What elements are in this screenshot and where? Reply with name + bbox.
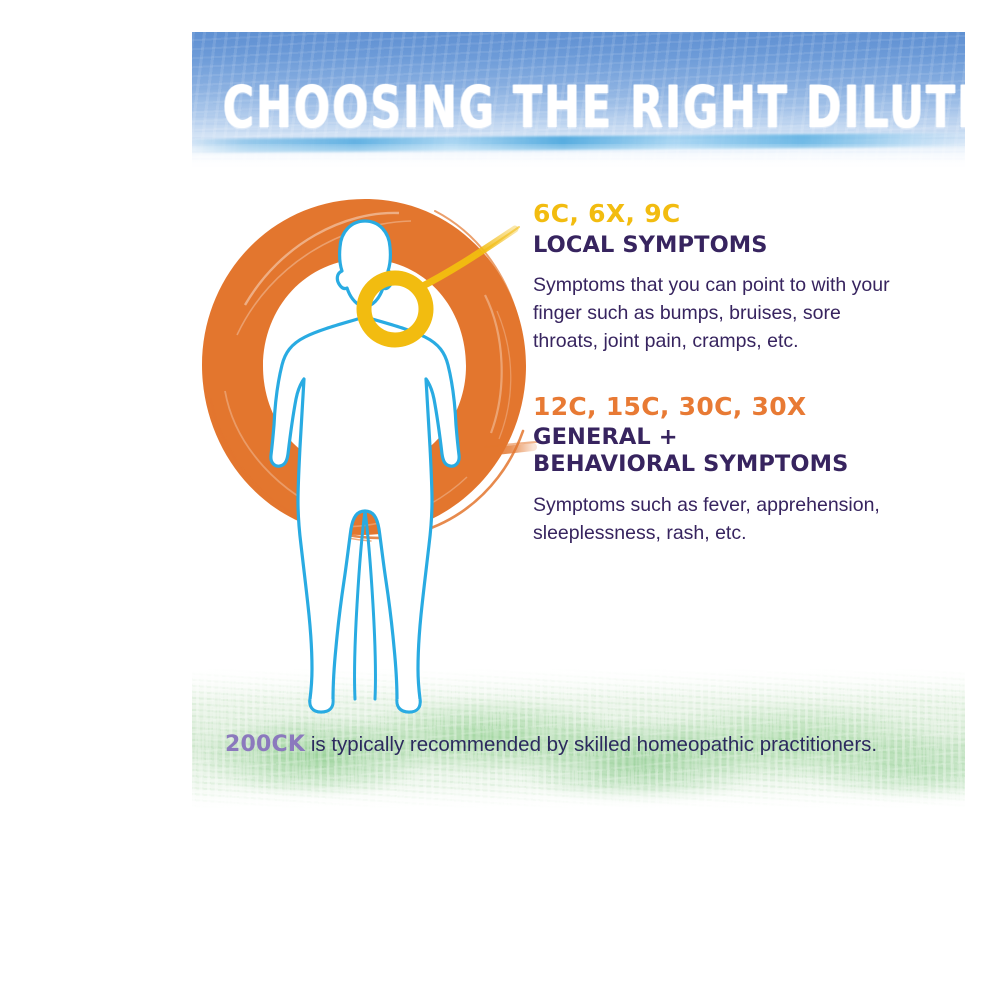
footer-highlight-200ck: 200CK: [225, 732, 305, 757]
footer-note-text: is typically recommended by skilled home…: [305, 733, 877, 756]
potency-heading-general: 12C, 15C, 30C, 30X: [533, 393, 933, 421]
block-spacer: [533, 355, 933, 393]
footer-note: 200CK is typically recommended by skille…: [225, 732, 965, 758]
infographic-poster: CHOOSING THE RIGHT DILUTION: [0, 0, 1000, 1000]
subheading-general-line1: GENERAL +: [533, 424, 678, 450]
subheading-local-symptoms: LOCAL SYMPTOMS: [533, 232, 933, 259]
subheading-general-behavioral: GENERAL + BEHAVIORAL SYMPTOMS: [533, 424, 933, 478]
potency-heading-local: 6C, 6X, 9C: [533, 200, 933, 228]
page-title: CHOOSING THE RIGHT DILUTION: [223, 78, 934, 136]
body-text-general-symptoms: Symptoms such as fever, apprehension, sl…: [533, 491, 911, 547]
dilution-text-column: 6C, 6X, 9C LOCAL SYMPTOMS Symptoms that …: [533, 200, 933, 547]
body-illustration: [185, 185, 545, 725]
subheading-general-line2: BEHAVIORAL SYMPTOMS: [533, 451, 848, 477]
sky-horizon-fade: [192, 144, 965, 172]
dilution-block-local: 6C, 6X, 9C LOCAL SYMPTOMS Symptoms that …: [533, 200, 933, 355]
dilution-block-general: 12C, 15C, 30C, 30X GENERAL + BEHAVIORAL …: [533, 393, 933, 547]
body-text-local-symptoms: Symptoms that you can point to with your…: [533, 271, 911, 355]
grass-bottom-fade: [192, 787, 965, 813]
